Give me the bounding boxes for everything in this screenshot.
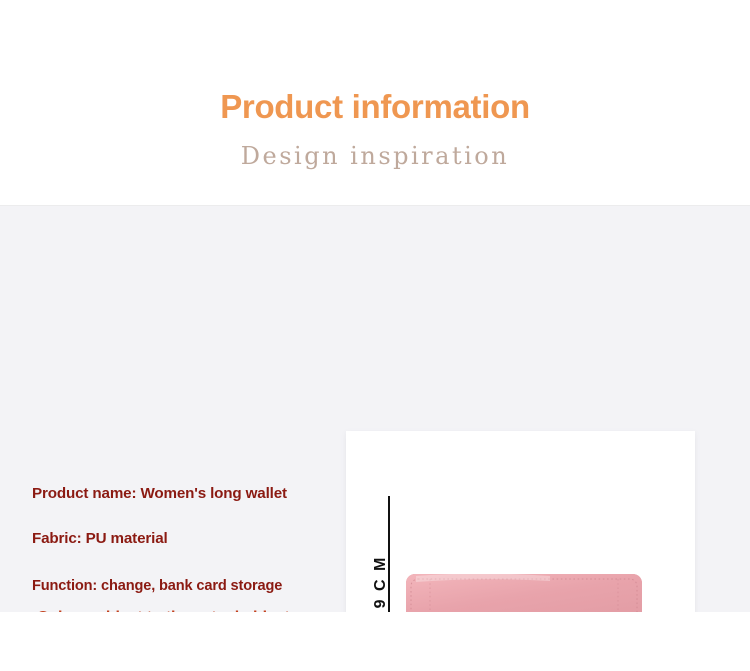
spec-function: Function: change, bank card storage bbox=[32, 577, 332, 596]
page-subtitle: Design inspiration bbox=[0, 142, 750, 170]
page-root: Product information Design inspiration P… bbox=[0, 0, 750, 671]
page-title: Product information bbox=[0, 88, 750, 126]
spec-fabric: Fabric: PU material bbox=[32, 529, 332, 548]
spec-product-name: Product name: Women's long wallet bbox=[32, 484, 332, 503]
header-section: Product information Design inspiration bbox=[0, 0, 750, 205]
product-spec-list: Product name: Women's long wallet Fabric… bbox=[32, 484, 332, 628]
content-band: Product name: Women's long wallet Fabric… bbox=[0, 205, 750, 612]
height-dimension-label: 9 C M bbox=[372, 542, 390, 622]
footer-spacer bbox=[0, 612, 750, 671]
